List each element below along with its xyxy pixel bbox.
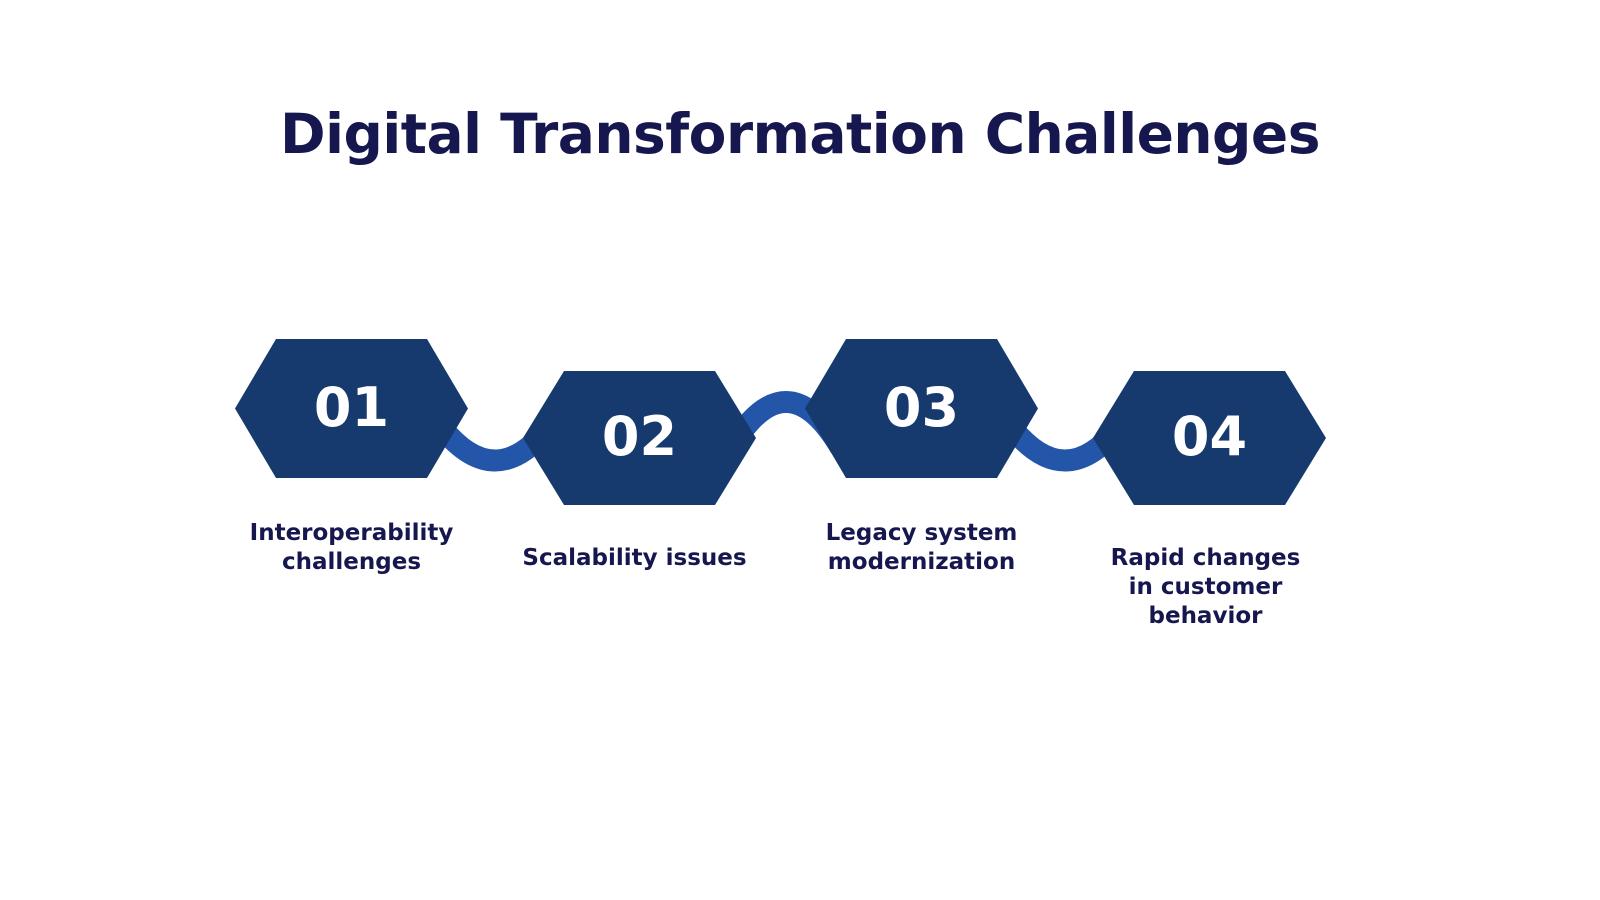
step-number-04: 04 — [1093, 410, 1326, 464]
step-caption-04: Rapid changes in customer behavior — [1085, 544, 1326, 630]
step-caption-01: Interoperability challenges — [231, 519, 472, 577]
chain-svg — [0, 0, 1600, 900]
step-caption-03: Legacy system modernization — [801, 519, 1042, 577]
step-number-03: 03 — [805, 381, 1038, 435]
step-number-01: 01 — [235, 381, 468, 435]
slide-canvas: Digital Transformation Challenges — [0, 0, 1600, 900]
process-diagram: 01 02 03 04 Interoperability challenges … — [0, 0, 1600, 900]
step-number-02: 02 — [523, 410, 756, 464]
step-caption-02: Scalability issues — [509, 544, 760, 573]
